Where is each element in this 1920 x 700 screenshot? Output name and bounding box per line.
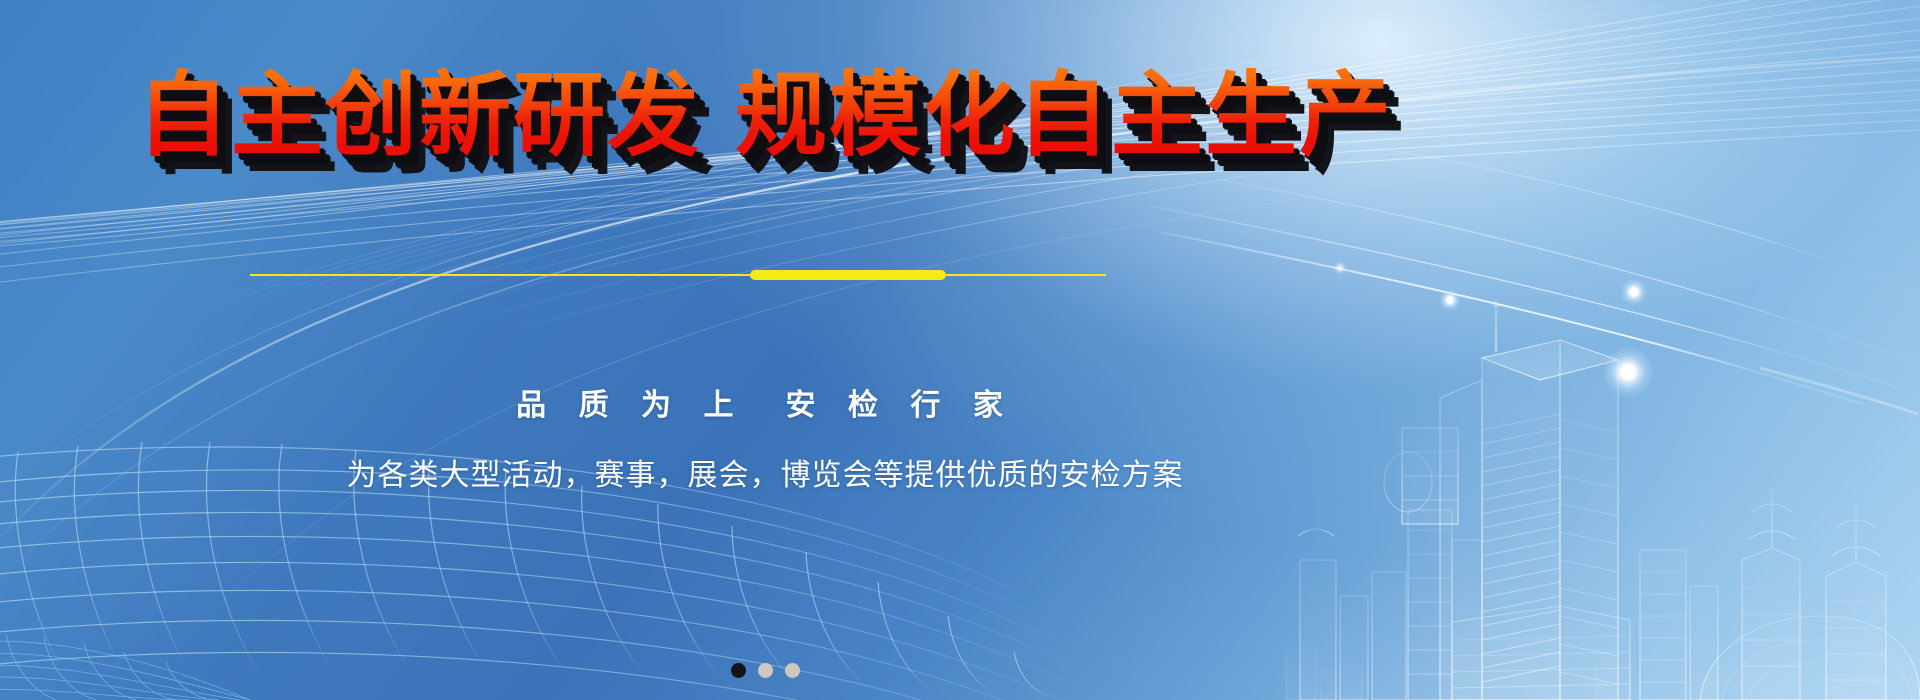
divider-thin-line [250, 274, 1106, 276]
divider-accent-bar [750, 270, 946, 280]
hero-banner-slide: 自主创新研发 规模化自主生产 品 质 为 上 安 检 行 家 为各类大型活动，赛… [0, 0, 1920, 700]
subtitle-description: 为各类大型活动，赛事，展会，博览会等提供优质的安检方案 [0, 450, 1530, 494]
carousel-dot-1[interactable] [731, 663, 746, 678]
carousel-dot-2[interactable] [758, 663, 773, 678]
subtitle-slogan: 品 质 为 上 安 检 行 家 [0, 380, 1530, 424]
subtitle-container: 品 质 为 上 安 检 行 家 为各类大型活动，赛事，展会，博览会等提供优质的安… [0, 380, 1530, 494]
carousel-dot-3[interactable] [785, 663, 800, 678]
headline-container: 自主创新研发 规模化自主生产 [0, 64, 1530, 167]
carousel-pagination[interactable] [0, 663, 1530, 678]
page-title: 自主创新研发 规模化自主生产 [137, 64, 1393, 167]
divider [250, 270, 1106, 280]
